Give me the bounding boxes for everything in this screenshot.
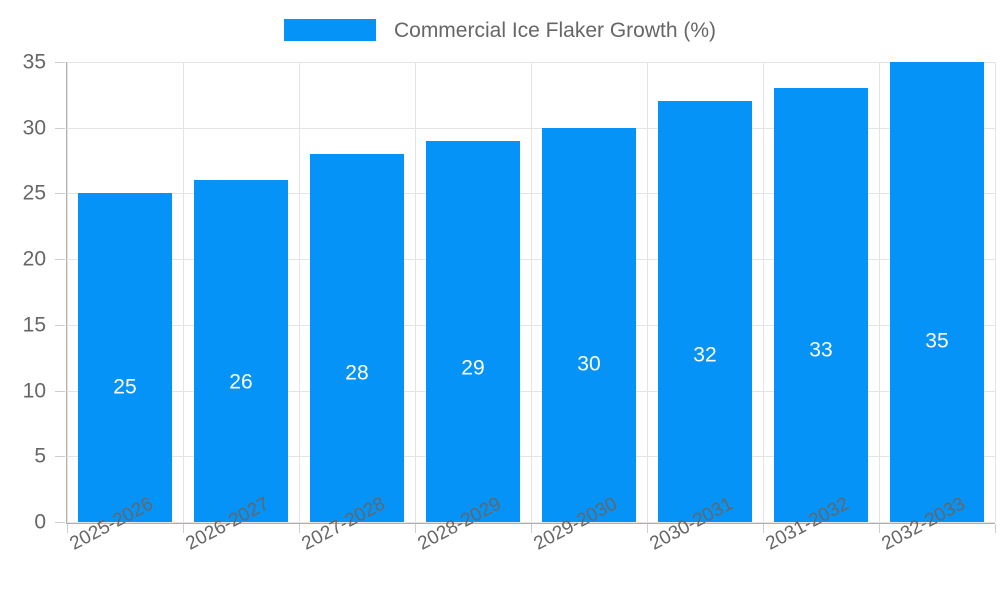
bar[interactable]: 26 [194,180,287,522]
bar[interactable]: 35 [890,62,983,522]
bar[interactable]: 32 [658,101,751,522]
y-axis-tick-mark [55,259,65,260]
legend-label: Commercial Ice Flaker Growth (%) [394,20,716,41]
bar[interactable]: 28 [310,154,403,522]
x-axis-tick-mark [647,524,648,533]
x-axis-tick-mark [879,524,880,533]
y-axis-tick-label: 5 [0,446,46,467]
x-axis-tick-mark [183,524,184,533]
gridline-vertical [299,62,300,522]
gridline-vertical [531,62,532,522]
bar-value-label: 26 [194,372,287,393]
legend-swatch-icon [284,19,376,41]
y-axis-tick-label: 25 [0,183,46,204]
x-axis-tick-mark [299,524,300,533]
gridline-vertical [67,62,68,522]
y-axis-tick-label: 0 [0,512,46,533]
y-axis-tick-mark [55,522,65,523]
chart-legend: Commercial Ice Flaker Growth (%) [0,10,1000,50]
bar-value-label: 33 [774,340,867,361]
y-axis-tick-mark [55,62,65,63]
bar[interactable]: 25 [78,193,171,522]
y-axis-tick-mark [55,193,65,194]
y-axis-tick-label: 15 [0,314,46,335]
bar-value-label: 32 [658,344,751,365]
y-axis-tick-label: 30 [0,117,46,138]
bar-chart: Commercial Ice Flaker Growth (%) 2526282… [0,0,1000,600]
bar[interactable]: 33 [774,88,867,522]
x-axis-tick-mark [995,524,996,533]
x-axis-tick-mark [415,524,416,533]
gridline-vertical [879,62,880,522]
gridline-vertical [415,62,416,522]
plot-area: 2526282930323335 [67,62,995,522]
y-axis-tick-label: 35 [0,52,46,73]
x-axis-tick-mark [531,524,532,533]
gridline-vertical [995,62,996,522]
bar-value-label: 29 [426,358,519,379]
gridline-vertical [763,62,764,522]
x-axis-tick-mark [763,524,764,533]
y-axis-tick-mark [55,128,65,129]
bar-value-label: 28 [310,362,403,383]
bar-value-label: 30 [542,353,635,374]
gridline-vertical [183,62,184,522]
x-axis-tick-mark [67,524,68,533]
legend-item-0[interactable]: Commercial Ice Flaker Growth (%) [284,19,716,41]
y-axis-tick-label: 10 [0,380,46,401]
gridline-vertical [647,62,648,522]
y-axis-tick-mark [55,325,65,326]
bar[interactable]: 29 [426,141,519,522]
bar[interactable]: 30 [542,128,635,522]
bar-value-label: 25 [78,376,171,397]
y-axis-tick-mark [55,391,65,392]
bar-value-label: 35 [890,330,983,351]
y-axis-tick-mark [55,456,65,457]
y-axis-tick-label: 20 [0,249,46,270]
